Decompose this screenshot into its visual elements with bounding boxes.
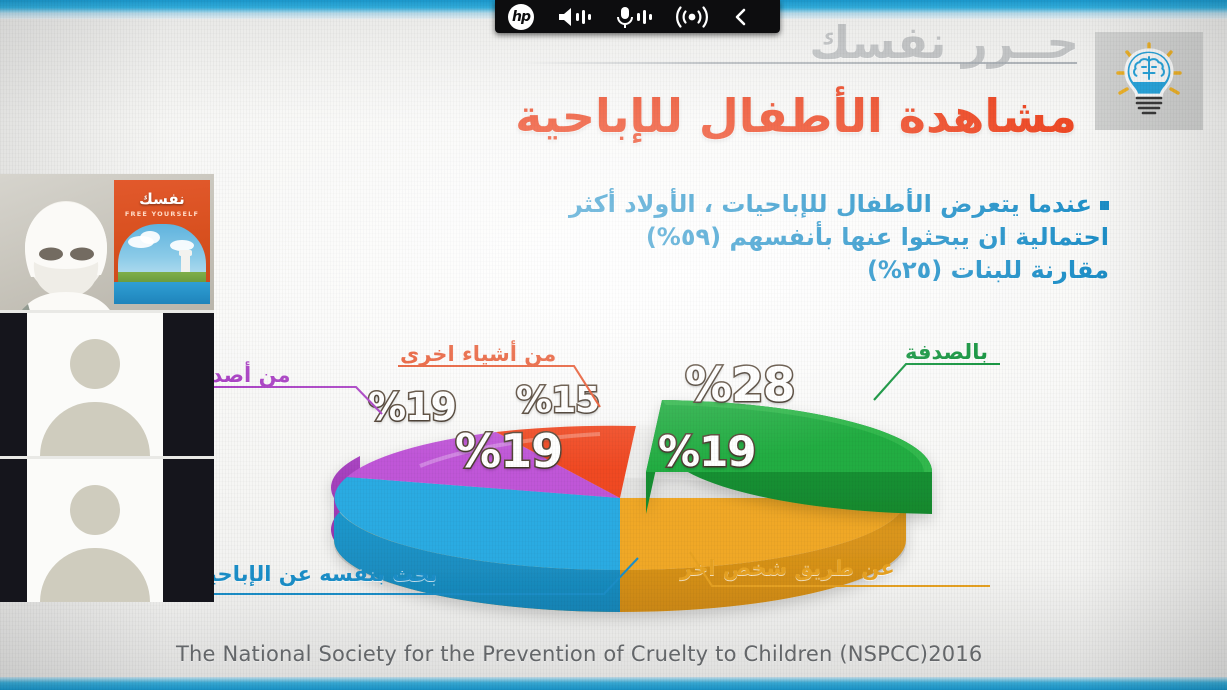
- square-bullet-icon: [1100, 201, 1109, 210]
- default-person-avatar: [27, 459, 163, 602]
- tile-letterbox-right: [163, 459, 214, 602]
- ghost-brand-rule: [517, 62, 1077, 64]
- slice-label-orange: عن طريق شخص اخر: [680, 556, 895, 580]
- bullet-line-3: مقارنة للبنات (٢٥%): [209, 254, 1109, 287]
- poster-title: نفسك: [114, 190, 210, 208]
- tile-letterbox-left: [0, 313, 27, 456]
- bullet-line-1-text: عندما يتعرض الأطفال للإباحيات ، الأولاد …: [569, 190, 1092, 218]
- avatar-head: [70, 485, 120, 535]
- presenter-camera[interactable]: نفسك FREE YOURSELF: [0, 174, 214, 310]
- free-yourself-poster: نفسك FREE YOURSELF: [114, 180, 210, 304]
- participant-tile-2[interactable]: [0, 459, 214, 602]
- brain-bulb-logo: [1095, 32, 1203, 130]
- slice-label-blue: بحث بنفسه عن الإباحيات: [180, 562, 438, 586]
- avatar-body: [40, 402, 150, 456]
- microphone-icon[interactable]: [605, 0, 663, 33]
- page-title: مشاهدة الأطفال للإباحية: [515, 89, 1077, 143]
- tile-letterbox-right: [163, 313, 214, 456]
- hp-toolbar[interactable]: hp: [495, 0, 780, 33]
- hp-logo-label: hp: [508, 4, 534, 30]
- avatar-body: [40, 548, 150, 602]
- bullet-paragraph: عندما يتعرض الأطفال للإباحيات ، الأولاد …: [209, 188, 1109, 287]
- hp-logo: hp: [495, 0, 547, 33]
- default-person-avatar: [27, 313, 163, 456]
- slice-label-green: بالصدفة: [905, 340, 988, 364]
- source-citation: The National Society for the Prevention …: [176, 642, 982, 666]
- slice-label-red: من أشياء اخرى: [400, 342, 556, 366]
- video-conference-panel: نفسك FREE YOURSELF: [0, 174, 214, 601]
- collapse-chevron-icon[interactable]: [721, 0, 761, 33]
- avatar-head: [70, 339, 120, 389]
- bullet-line-2: احتمالية ان يبحثوا عنها بأنفسهم (٥٩%): [209, 221, 1109, 254]
- bullet-line-1: عندما يتعرض الأطفال للإباحيات ، الأولاد …: [209, 188, 1109, 221]
- broadcast-icon[interactable]: [663, 0, 721, 33]
- speaker-icon[interactable]: [547, 0, 605, 33]
- screen-capture: حــرر نفسك: [0, 0, 1227, 690]
- poster-subtitle: FREE YOURSELF: [114, 210, 210, 218]
- tile-letterbox-left: [0, 459, 27, 602]
- participant-tile-1[interactable]: [0, 313, 214, 456]
- slide-bottom-band: [0, 677, 1227, 690]
- poster-footer-band: [114, 282, 210, 304]
